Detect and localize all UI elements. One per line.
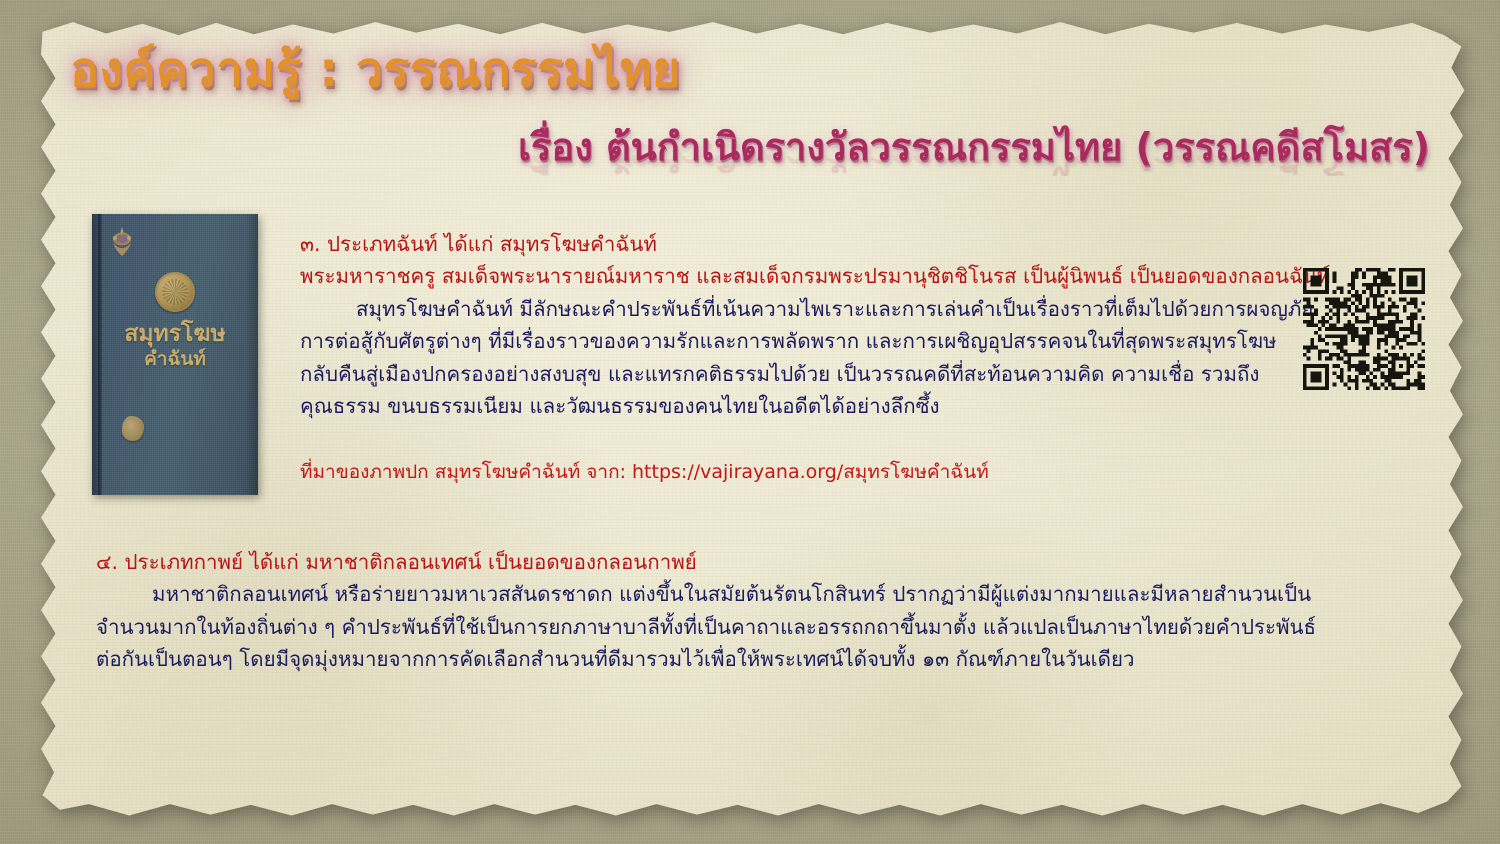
image-source-attribution[interactable]: ที่มาของภาพปก สมุทรโฆษคำฉันท์ จาก: https…: [300, 458, 989, 487]
book-title-line2: คำฉันท์: [92, 348, 258, 370]
book-cover-image: สมุทรโฆษ คำฉันท์: [92, 214, 258, 495]
section-4-heading: ๔. ประเภทกาพย์ ได้แก่ มหาชาติกลอนเทศน์ เ…: [96, 546, 1426, 578]
section-4-line-3: ต่อกันเป็นตอนๆ โดยมีจุดมุ่งหมายจากการคัด…: [96, 643, 1426, 675]
gold-ornament-stamp-icon: [122, 416, 144, 441]
section-3-line-2: สมุทรโฆษคำฉันท์ มีลักษณะคำประพันธ์ที่เน้…: [300, 293, 1300, 325]
slide-canvas: องค์ความรู้ : วรรณกรรมไทย เรื่อง ต้นกำเน…: [0, 0, 1500, 844]
section-4-text: ๔. ประเภทกาพย์ ได้แก่ มหาชาติกลอนเทศน์ เ…: [96, 546, 1426, 676]
seal-inner-pattern: [162, 279, 188, 305]
section-4-line-1: มหาชาติกลอนเทศน์ หรือร่ายยาวมหาเวสสันดรช…: [96, 578, 1426, 610]
section-3-line-5: คุณธรรม ขนบธรรมเนียม และวัฒนธรรมของคนไทย…: [300, 390, 1300, 422]
qr-code-image: [1303, 268, 1425, 390]
royal-crown-crest-icon: [108, 226, 136, 260]
section-3-line-4: กลับคืนสู่เมืองปกครองอย่างสงบสุข และแทรก…: [300, 358, 1300, 390]
gold-medallion-seal-icon: [155, 272, 195, 312]
book-cover-title: สมุทรโฆษ คำฉันท์: [92, 321, 258, 370]
book-edge-shadow: [246, 214, 258, 495]
section-3-line-1: พระมหาราชครู สมเด็จพระนารายณ์มหาราช และส…: [300, 260, 1300, 292]
section-3-heading: ๓. ประเภทฉันท์ ได้แก่ สมุทรโฆษคำฉันท์: [300, 228, 1300, 260]
section-4-line-2: จำนวนมากในท้องถิ่นต่าง ๆ คำประพันธ์ที่ใช…: [96, 611, 1426, 643]
section-3-text: ๓. ประเภทฉันท์ ได้แก่ สมุทรโฆษคำฉันท์ พร…: [300, 228, 1300, 422]
qr-code[interactable]: [1303, 268, 1425, 390]
section-3-line-3: การต่อสู้กับศัตรูต่างๆ ที่มีเรื่องราวของ…: [300, 325, 1300, 357]
book-title-line1: สมุทรโฆษ: [124, 321, 225, 347]
